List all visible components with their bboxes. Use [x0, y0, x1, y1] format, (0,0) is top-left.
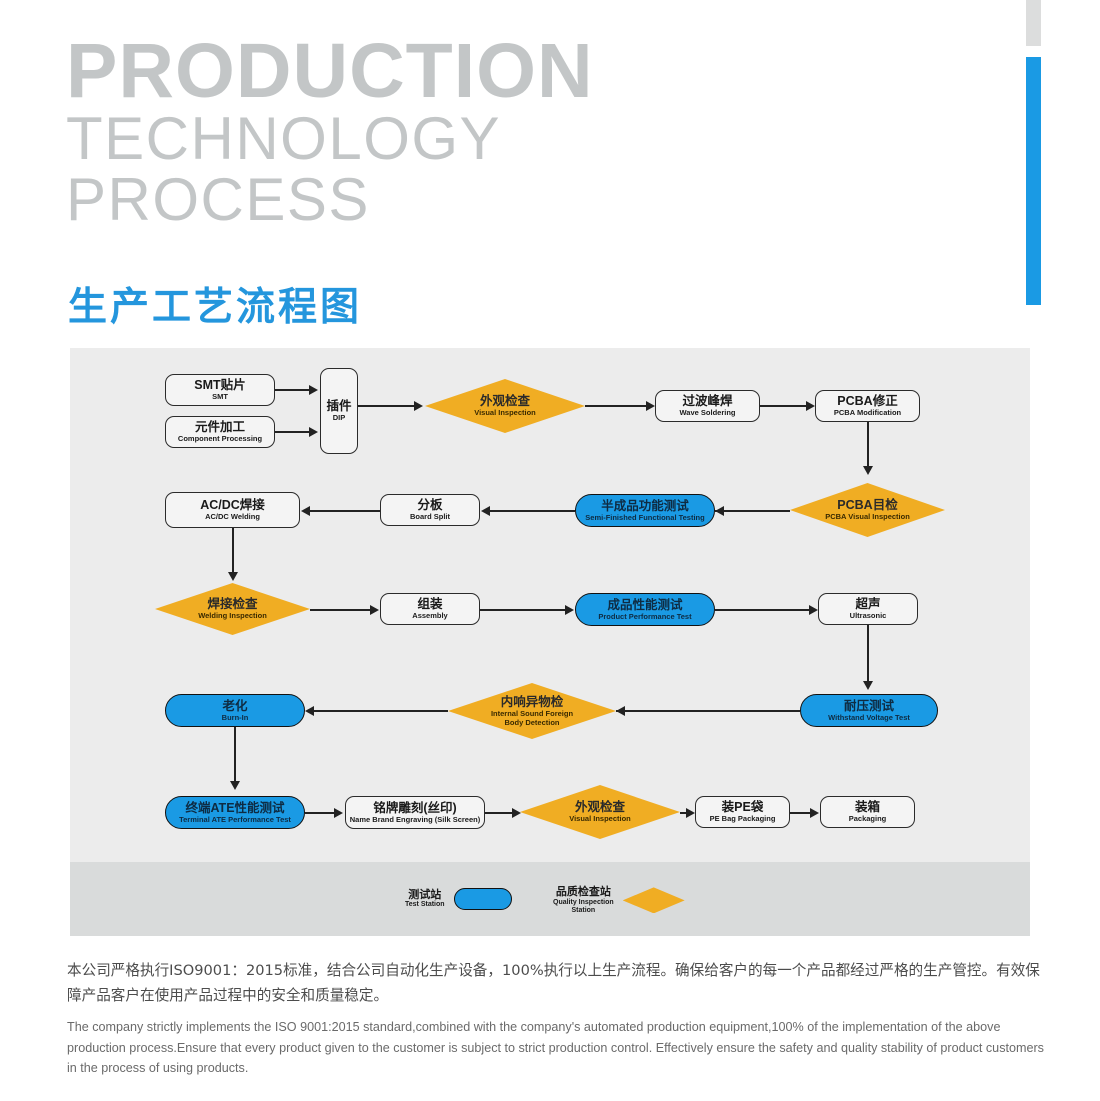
- node-internal-sound-foreign-body-detection[interactable]: 内响异物检 Internal Sound Foreign Body Detect…: [448, 683, 616, 739]
- connector-smt-dip: [275, 389, 311, 391]
- legend-strip: [70, 862, 1030, 936]
- connector-assembly-perftest: [480, 609, 568, 611]
- node-label-cn: 成品性能测试: [607, 598, 682, 612]
- connector-engraving-visual2: [485, 812, 514, 814]
- arrowhead: [810, 808, 819, 818]
- legend-label-cn: 测试站: [405, 889, 445, 902]
- arrowhead: [512, 808, 521, 818]
- connector-pcbavis-semifunc: [715, 510, 790, 512]
- arrowhead: [305, 706, 314, 716]
- connector-visual1-wave: [585, 405, 650, 407]
- node-wave-soldering[interactable]: 过波峰焊 Wave Soldering: [655, 390, 760, 422]
- node-dip[interactable]: 插件 DIP: [320, 368, 358, 454]
- node-label-cn: 半成品功能测试: [601, 499, 689, 513]
- connector-dip-visual1: [358, 405, 418, 407]
- node-label-en: Ultrasonic: [850, 612, 887, 620]
- node-visual-inspection-2[interactable]: 外观检查 Visual Inspection: [520, 785, 680, 839]
- node-text: 内响异物检 Internal Sound Foreign Body Detect…: [491, 695, 573, 728]
- connector-acdc-weldinsp: [232, 528, 234, 576]
- connector-withstand-soundfb: [616, 710, 800, 712]
- arrowhead: [309, 385, 318, 395]
- legend-label: 测试站 Test Station: [405, 889, 445, 910]
- node-label-en: SMT: [212, 393, 228, 401]
- legend-label: 品质检查站 Quality Inspection Station: [553, 886, 614, 915]
- node-label-cn: SMT贴片: [194, 378, 245, 392]
- page-title: PRODUCTION TECHNOLOGY PROCESS: [66, 36, 594, 231]
- node-pcba-modification[interactable]: PCBA修正 PCBA Modification: [815, 390, 920, 422]
- node-label-en: Semi-Finished Functional Testing: [585, 514, 704, 522]
- arrowhead: [809, 605, 818, 615]
- accent-bar-gray: [1026, 0, 1041, 46]
- title-line-technology: TECHNOLOGY: [66, 108, 594, 170]
- node-label-en: Withstand Voltage Test: [828, 714, 910, 722]
- arrowhead: [616, 706, 625, 716]
- node-product-performance-test[interactable]: 成品性能测试 Product Performance Test: [575, 593, 715, 626]
- node-smt[interactable]: SMT贴片 SMT: [165, 374, 275, 406]
- node-welding-inspection[interactable]: 焊接检查 Welding Inspection: [155, 583, 310, 635]
- node-withstand-voltage-test[interactable]: 耐压测试 Withstand Voltage Test: [800, 694, 938, 727]
- node-label-en: PCBA Visual Inspection: [825, 513, 910, 521]
- node-label-cn: 装PE袋: [722, 800, 764, 814]
- node-label-en-line1: Internal Sound Foreign: [491, 710, 573, 718]
- node-label-cn: AC/DC焊接: [200, 498, 265, 512]
- connector-boardsplit-acdc: [309, 510, 380, 512]
- node-text: 外观检查 Visual Inspection: [474, 394, 536, 417]
- arrowhead: [230, 781, 240, 790]
- node-label-cn: 超声: [855, 597, 880, 611]
- connector-wave-pcbamod: [760, 405, 808, 407]
- legend-label-cn: 品质检查站: [553, 886, 614, 899]
- legend-quality-inspection-station: 品质检查站 Quality Inspection Station: [553, 886, 685, 915]
- node-label-cn: 外观检查: [569, 800, 631, 814]
- node-label-cn: 分板: [417, 498, 442, 512]
- connector-pebag-packaging: [790, 812, 812, 814]
- arrowhead: [565, 605, 574, 615]
- connector-ate-engraving: [305, 812, 336, 814]
- node-label-en: Visual Inspection: [569, 815, 631, 823]
- node-text: PCBA目检 PCBA Visual Inspection: [825, 498, 910, 521]
- node-label-en: Product Performance Test: [598, 613, 691, 621]
- arrowhead: [481, 506, 490, 516]
- node-label-cn: 装箱: [855, 800, 880, 814]
- title-line-production: PRODUCTION: [66, 36, 594, 108]
- arrowhead: [646, 401, 655, 411]
- node-terminal-ate-performance-test[interactable]: 终端ATE性能测试 Terminal ATE Performance Test: [165, 796, 305, 829]
- node-assembly[interactable]: 组装 Assembly: [380, 593, 480, 625]
- node-label-en: Board Split: [410, 513, 450, 521]
- node-label-en: Terminal ATE Performance Test: [179, 816, 291, 824]
- node-burn-in[interactable]: 老化 Burn-In: [165, 694, 305, 727]
- connector-soundfb-burnin: [313, 710, 448, 712]
- node-label-en: Assembly: [412, 612, 447, 620]
- legend-test-station: 测试站 Test Station: [405, 888, 512, 910]
- node-component-processing[interactable]: 元件加工 Component Processing: [165, 416, 275, 448]
- node-text: 外观检查 Visual Inspection: [569, 800, 631, 823]
- arrowhead: [301, 506, 310, 516]
- accent-bar-blue: [1026, 57, 1041, 305]
- page-root: PRODUCTION TECHNOLOGY PROCESS 生产工艺流程图 SM…: [0, 0, 1100, 1101]
- node-label-cn: 外观检查: [474, 394, 536, 408]
- node-name-brand-engraving[interactable]: 铭牌雕刻(丝印) Name Brand Engraving (Silk Scre…: [345, 796, 485, 829]
- node-label-cn: 内响异物检: [491, 695, 573, 709]
- arrowhead: [863, 681, 873, 690]
- connector-component-dip: [275, 431, 311, 433]
- arrowhead: [806, 401, 815, 411]
- node-label-cn: 元件加工: [195, 420, 245, 434]
- node-label-en: Component Processing: [178, 435, 262, 443]
- connector-perftest-ultrasonic: [715, 609, 811, 611]
- node-label-cn: 插件: [326, 399, 351, 413]
- arrowhead: [370, 605, 379, 615]
- legend-pill-swatch: [454, 888, 512, 910]
- node-pcba-visual-inspection[interactable]: PCBA目检 PCBA Visual Inspection: [790, 483, 945, 537]
- connector-pcbamod-pcbavis: [867, 422, 869, 470]
- arrowhead: [863, 466, 873, 475]
- node-label-en: DIP: [333, 414, 346, 422]
- connector-weldinsp-assembly: [310, 609, 372, 611]
- node-label-en-line2: Body Detection: [491, 719, 573, 727]
- connector-semifunc-boardsplit: [489, 510, 575, 512]
- node-visual-inspection-1[interactable]: 外观检查 Visual Inspection: [425, 379, 585, 433]
- chinese-subtitle: 生产工艺流程图: [68, 276, 362, 332]
- legend-diamond-swatch: [623, 887, 685, 913]
- node-ultrasonic[interactable]: 超声 Ultrasonic: [818, 593, 918, 625]
- node-label-en: Packaging: [849, 815, 887, 823]
- node-packaging[interactable]: 装箱 Packaging: [820, 796, 915, 828]
- node-board-split[interactable]: 分板 Board Split: [380, 494, 480, 526]
- title-line-process: PROCESS: [66, 169, 594, 231]
- node-label-en: AC/DC Welding: [205, 513, 260, 521]
- node-label-cn: 焊接检查: [198, 597, 267, 611]
- node-label-en: PCBA Modification: [834, 409, 901, 417]
- node-label-en: Welding Inspection: [198, 612, 267, 620]
- arrowhead: [686, 808, 695, 818]
- legend-label-en-line1: Quality Inspection: [553, 899, 614, 907]
- node-label-cn: 老化: [222, 699, 247, 713]
- connector-ultrasonic-withstand: [867, 625, 869, 685]
- node-text: 焊接检查 Welding Inspection: [198, 597, 267, 620]
- arrowhead: [228, 572, 238, 581]
- legend-label-en: Test Station: [405, 901, 445, 909]
- arrowhead: [334, 808, 343, 818]
- connector-burnin-ate: [234, 727, 236, 785]
- legend-label-en-line2: Station: [553, 907, 614, 915]
- node-label-cn: 组装: [417, 597, 442, 611]
- node-label-en: PE Bag Packaging: [710, 815, 776, 823]
- node-acdc-welding[interactable]: AC/DC焊接 AC/DC Welding: [165, 492, 300, 528]
- node-pe-bag-packaging[interactable]: 装PE袋 PE Bag Packaging: [695, 796, 790, 828]
- node-label-en: Burn-In: [222, 714, 249, 722]
- arrowhead: [309, 427, 318, 437]
- node-semi-finished-functional-testing[interactable]: 半成品功能测试 Semi-Finished Functional Testing: [575, 494, 715, 527]
- node-label-cn: 过波峰焊: [682, 394, 732, 408]
- node-label-cn: 终端ATE性能测试: [185, 801, 284, 815]
- node-label-en: Name Brand Engraving (Silk Screen): [350, 816, 480, 824]
- footer-chinese-paragraph: 本公司严格执行ISO9001：2015标准，结合公司自动化生产设备，100%执行…: [67, 958, 1052, 1008]
- arrowhead: [414, 401, 423, 411]
- arrowhead: [715, 506, 724, 516]
- node-label-cn: PCBA修正: [837, 394, 897, 408]
- footer-text: 本公司严格执行ISO9001：2015标准，结合公司自动化生产设备，100%执行…: [67, 958, 1052, 1078]
- node-label-cn: 铭牌雕刻(丝印): [373, 801, 456, 815]
- node-label-en: Wave Soldering: [680, 409, 736, 417]
- footer-english-paragraph: The company strictly implements the ISO …: [67, 1017, 1052, 1078]
- node-label-cn: 耐压测试: [844, 699, 894, 713]
- node-label-en: Visual Inspection: [474, 409, 536, 417]
- node-label-cn: PCBA目检: [825, 498, 910, 512]
